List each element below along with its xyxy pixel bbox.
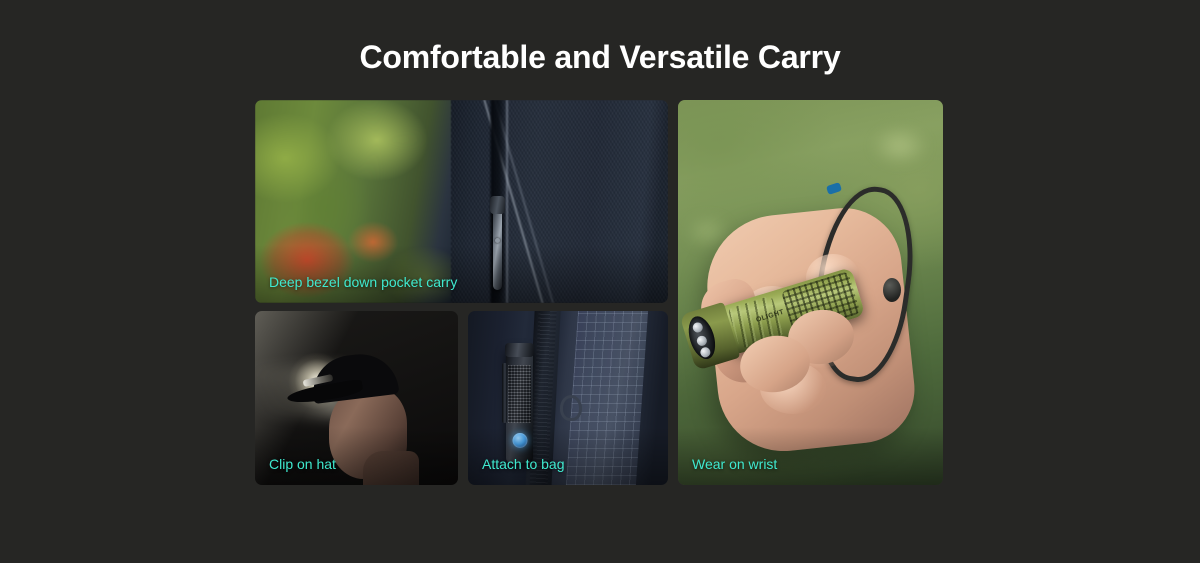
page-title: Comfortable and Versatile Carry: [0, 38, 1200, 76]
tile-caption-clip-on-hat: Clip on hat: [269, 456, 336, 474]
gallery-tile-wear-on-wrist[interactable]: OLIGHT Wear on wrist: [678, 100, 943, 485]
gallery-tile-clip-on-hat[interactable]: Clip on hat: [255, 311, 458, 485]
flashlight-knurling: [508, 365, 531, 423]
tile-caption-pocket-carry: Deep bezel down pocket carry: [269, 274, 457, 292]
tile-caption-wear-on-wrist: Wear on wrist: [692, 456, 777, 474]
carry-options-gallery: Deep bezel down pocket carry Clip on hat: [255, 100, 943, 485]
tile-caption-attach-to-bag: Attach to bag: [482, 456, 565, 474]
flashlight-head: [505, 343, 534, 357]
flashlight-clip: [502, 363, 507, 423]
d-ring-icon: [560, 395, 582, 421]
product-feature-page: Comfortable and Versatile Carry Deep bez…: [0, 0, 1200, 563]
lanyard-bead: [883, 278, 901, 302]
gallery-tile-pocket-carry[interactable]: Deep bezel down pocket carry: [255, 100, 668, 303]
gallery-tile-attach-to-bag[interactable]: Attach to bag: [468, 311, 668, 485]
